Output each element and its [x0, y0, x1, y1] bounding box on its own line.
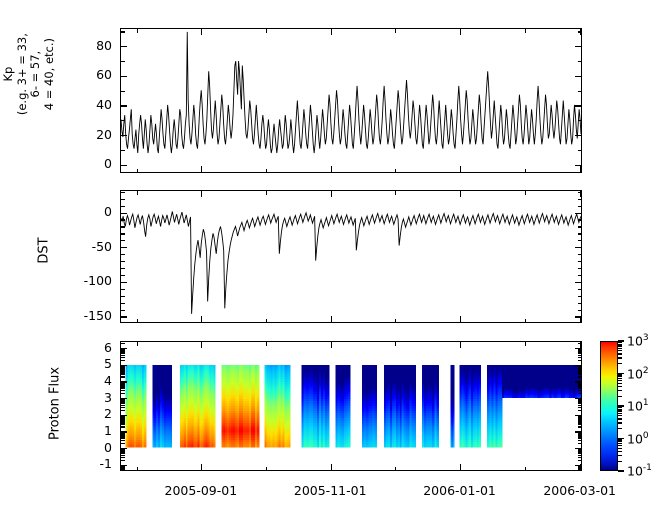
kp-axis-title-line1: Kp [2, 19, 16, 129]
panel-proton-flux [120, 341, 582, 471]
dst-ytick-label: -100 [62, 275, 112, 288]
spectrogram-cell [213, 445, 215, 448]
dst-ytick-label: 0 [62, 206, 112, 219]
kp-series-line [121, 29, 581, 172]
spectrogram-cell [144, 445, 147, 448]
dst-ytick-label: -50 [62, 241, 112, 254]
spectrogram-cell [288, 445, 290, 448]
spectrogram-cell [413, 445, 415, 448]
spectrogram-cell [500, 445, 503, 448]
panel-dst [120, 190, 582, 323]
series-path [121, 211, 581, 313]
kp-axis-title-line3: 6- = 57, [29, 19, 43, 129]
kp-axis-title: Kp (e.g. 3+ = 33, 6- = 57, 4 = 40, etc.) [2, 19, 56, 129]
proton-flux-spectrogram [121, 342, 581, 470]
spectrogram-cell [348, 445, 351, 448]
dst-series-line [121, 191, 581, 322]
spectrogram-cell [436, 445, 439, 448]
spectrogram-cell [327, 445, 329, 448]
dst-axis-title: DST [37, 221, 52, 281]
kp-ytick-label: 80 [62, 40, 112, 53]
spectrogram-cell [257, 445, 259, 448]
kp-ytick-label: 20 [62, 128, 112, 141]
dst-ytick-label: -150 [62, 310, 112, 323]
panel-kp [120, 28, 582, 173]
spectrogram-cell [375, 445, 378, 448]
kp-ytick-label: 40 [62, 99, 112, 112]
kp-axis-title-line2: (e.g. 3+ = 33, [15, 19, 29, 129]
figure-root: 020406080 Kp (e.g. 3+ = 33, 6- = 57, 4 =… [0, 0, 665, 523]
spectrogram-cell [479, 445, 481, 448]
kp-ytick-label: 60 [62, 69, 112, 82]
spectrogram-cell [170, 445, 172, 448]
spectrogram-cell [453, 445, 455, 448]
series-path [121, 32, 581, 153]
kp-axis-title-line4: 4 = 40, etc.) [43, 19, 57, 129]
kp-ytick-label: 0 [62, 158, 112, 171]
